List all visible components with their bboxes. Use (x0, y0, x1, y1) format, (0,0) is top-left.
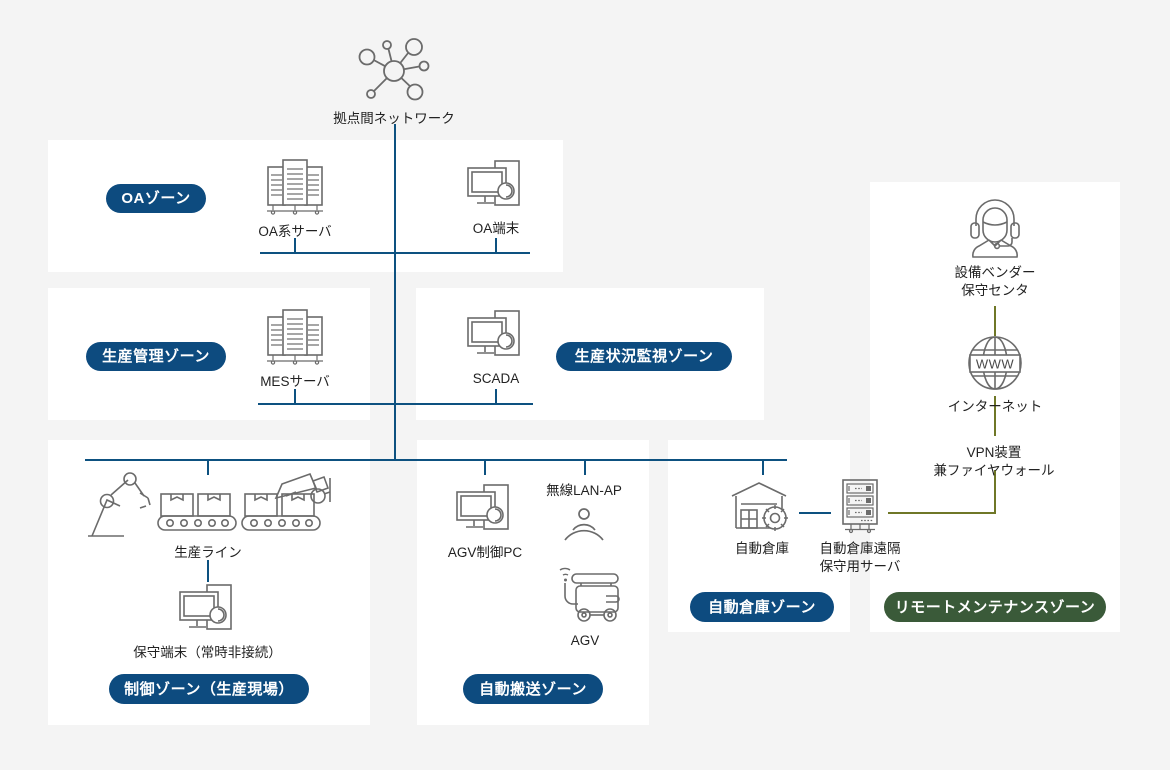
diagram-canvas: OAゾーン 生産管理ゾーン 生産状況監視ゾーン 制御ゾーン（生産現場） 自動搬送… (0, 0, 1170, 770)
node-inter-site-network: 拠点間ネットワーク (330, 38, 458, 128)
node-automated-warehouse-label: 自動倉庫 (735, 540, 789, 558)
zone-badge-seigyo[interactable]: 制御ゾーン（生産現場） (109, 674, 309, 704)
zone-badge-remote[interactable]: リモートメンテナンスゾーン (884, 592, 1106, 622)
zone-badge-hanso[interactable]: 自動搬送ゾーン (463, 674, 603, 704)
server-rack-icon (263, 155, 327, 217)
desktop-pc-icon (177, 582, 239, 638)
node-agv-control-pc: AGV制御PC (436, 482, 534, 562)
node-maintenance-terminal-label: 保守端末（常時非接続） (133, 644, 282, 662)
node-oa-terminal: OA端末 (446, 158, 546, 238)
network-hub-icon (356, 38, 432, 104)
node-oa-server-label: OA系サーバ (258, 223, 331, 241)
zone-badge-hanso-label: 自動搬送ゾーン (479, 682, 587, 697)
wlan-ap-stub (584, 459, 586, 475)
mes-server-stub (294, 389, 296, 404)
node-internet-label: インターネット (948, 398, 1043, 416)
node-scada-label: SCADA (473, 370, 520, 388)
node-agv: AGV (540, 556, 630, 650)
node-automated-warehouse: 自動倉庫 (714, 478, 810, 558)
desktop-pc-icon (465, 308, 527, 364)
scada-stub (495, 389, 497, 404)
security-camera-icon (272, 472, 334, 522)
node-inter-site-network-label: 拠点間ネットワーク (333, 110, 455, 128)
headset-operator-icon (963, 196, 1027, 258)
svg-text:WWW: WWW (976, 357, 1015, 372)
node-security-camera (272, 472, 334, 522)
node-wireless-lan-ap-label: 無線LAN-AP (546, 482, 622, 500)
node-mes-server-label: MESサーバ (260, 373, 330, 391)
zone-badge-seigyo-label: 制御ゾーン（生産現場） (124, 682, 294, 697)
node-vpn-firewall-label: VPN装置 兼ファイヤウォール (909, 444, 1079, 480)
warehouse-stub (762, 459, 764, 475)
field-bus-line (85, 459, 787, 461)
agv-pc-stub (484, 459, 486, 475)
node-vendor-maintenance-center-label: 設備ベンダー 保守センタ (955, 264, 1036, 300)
node-scada: SCADA (446, 308, 546, 388)
warehouse-gear-icon (727, 478, 797, 534)
node-vendor-maintenance-center: 設備ベンダー 保守センタ (930, 196, 1060, 300)
desktop-pc-icon (465, 158, 527, 214)
zone-badge-soko[interactable]: 自動倉庫ゾーン (690, 592, 834, 622)
zone-badge-kanshi[interactable]: 生産状況監視ゾーン (556, 342, 732, 371)
node-wireless-lan-ap: 無線LAN-AP (534, 482, 634, 550)
node-warehouse-remote-server: 自動倉庫遠隔 保守用サーバ (808, 478, 912, 576)
vendor-to-internet-line (994, 306, 996, 336)
wifi-access-point-icon (553, 504, 615, 550)
zone-badge-oa-label: OAゾーン (121, 191, 190, 206)
zone-badge-oa[interactable]: OAゾーン (106, 184, 206, 213)
desktop-pc-icon (454, 482, 516, 538)
node-oa-terminal-label: OA端末 (473, 220, 520, 238)
zone-badge-seisan-kanri[interactable]: 生産管理ゾーン (86, 342, 226, 371)
node-warehouse-remote-server-label: 自動倉庫遠隔 保守用サーバ (820, 540, 901, 576)
node-maintenance-terminal: 保守端末（常時非接続） (120, 582, 295, 662)
node-internet: WWW インターネット (930, 334, 1060, 416)
zone-badge-seisan-kanri-label: 生産管理ゾーン (102, 349, 210, 364)
node-oa-server: OA系サーバ (245, 155, 345, 241)
zone-badge-remote-label: リモートメンテナンスゾーン (895, 600, 1095, 615)
trunk-vertical-line (394, 124, 396, 460)
node-agv-label: AGV (571, 632, 600, 650)
zone-badge-soko-label: 自動倉庫ゾーン (708, 600, 816, 615)
zone-badge-kanshi-label: 生産状況監視ゾーン (575, 349, 714, 364)
oa-bus-line (260, 252, 530, 254)
node-agv-control-pc-label: AGV制御PC (448, 544, 522, 562)
oa-terminal-stub (495, 238, 497, 253)
node-production-line-label: 生産ライン (174, 544, 242, 562)
agv-cart-icon (548, 556, 622, 626)
server-rack-icon (263, 305, 327, 367)
server-rack-icon (833, 478, 887, 534)
production-to-maint-line (207, 560, 209, 582)
globe-www-icon: WWW (964, 334, 1026, 392)
node-mes-server: MESサーバ (245, 305, 345, 391)
mes-scada-bus-line (258, 403, 533, 405)
